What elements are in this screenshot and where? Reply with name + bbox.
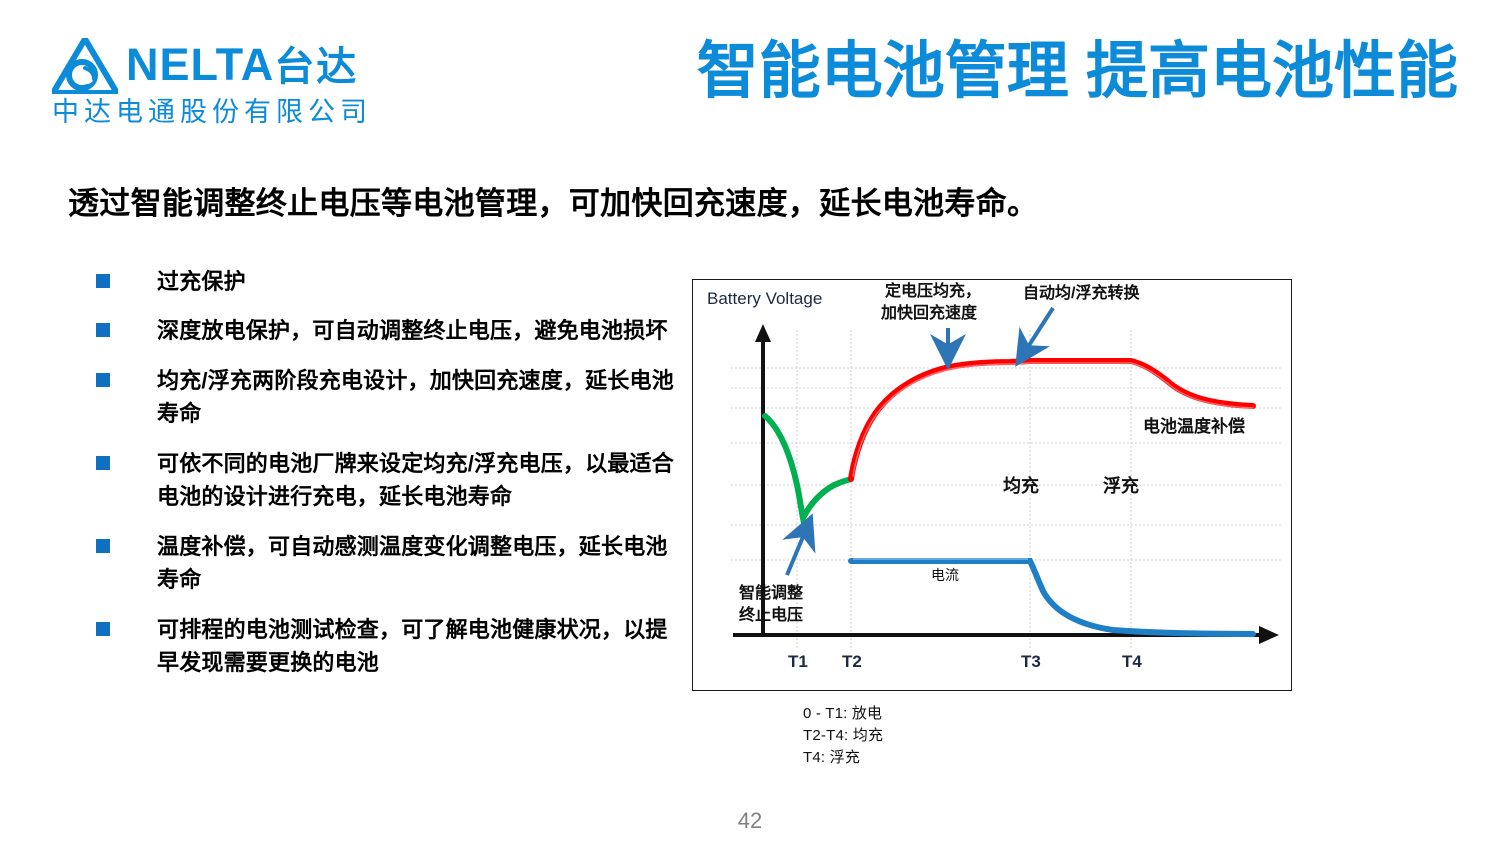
feature-bullet-list: 过充保护 深度放电保护，可自动调整终止电压，避免电池损坏 均充/浮充两阶段充电设… bbox=[96, 265, 676, 695]
list-item: 过充保护 bbox=[96, 265, 676, 298]
brand-wordmark-latin: NELTA bbox=[126, 39, 274, 90]
list-item: 可排程的电池测试检查，可了解电池健康状况，以提早发现需要更换的电池 bbox=[96, 613, 676, 680]
brand-logo: NELTA台达 中达电通股份有限公司 bbox=[48, 34, 388, 138]
bullet-square-icon bbox=[96, 274, 110, 288]
smart-cutoff-note-line2: 终止电压 bbox=[739, 605, 803, 624]
auto-switch-arrow-icon bbox=[1026, 308, 1053, 350]
list-item-label: 均充/浮充两阶段充电设计，加快回充速度，延长电池寿命 bbox=[157, 364, 676, 431]
float-zone-label: 浮充 bbox=[1103, 475, 1139, 496]
x-tick-t3: T3 bbox=[1021, 652, 1041, 671]
brand-company-name: 中达电通股份有限公司 bbox=[52, 96, 372, 128]
y-axis-title: Battery Voltage bbox=[707, 289, 822, 308]
chart-phase-legend: 0 - T1: 放电 T2-T4: 均充 T4: 浮充 bbox=[803, 703, 883, 768]
chart-canvas: Battery Voltage 定电压均充， 加快回充速度 自动均/浮充转换 电… bbox=[693, 280, 1290, 689]
x-tick-t1: T1 bbox=[788, 652, 808, 671]
auto-switch-note: 自动均/浮充转换 bbox=[1023, 283, 1140, 302]
list-item: 均充/浮充两阶段充电设计，加快回充速度，延长电池寿命 bbox=[96, 364, 676, 431]
brand-wordmark: NELTA台达 bbox=[126, 42, 358, 87]
list-item: 深度放电保护，可自动调整终止电压，避免电池损坏 bbox=[96, 314, 676, 347]
current-curve bbox=[851, 561, 1253, 634]
legend-line-equalize: T2-T4: 均充 bbox=[803, 725, 883, 747]
smart-cutoff-arrow-icon bbox=[787, 532, 805, 575]
list-item: 可依不同的电池厂牌来设定均充/浮充电压，以最适合电池的设计进行充电，延长电池寿命 bbox=[96, 447, 676, 514]
x-axis-arrow-icon bbox=[1259, 626, 1279, 644]
bullet-square-icon bbox=[96, 373, 110, 387]
list-item-label: 过充保护 bbox=[157, 265, 246, 298]
legend-line-float: T4: 浮充 bbox=[803, 747, 883, 769]
page-number: 42 bbox=[0, 808, 1500, 834]
current-curve-label: 电流 bbox=[931, 567, 959, 583]
subtitle-text: 透过智能调整终止电压等电池管理，可加快回充速度，延长电池寿命。 bbox=[68, 178, 1038, 223]
discharge-curve bbox=[765, 416, 851, 518]
y-axis-arrow-icon bbox=[755, 324, 771, 342]
list-item-label: 深度放电保护，可自动调整终止电压，避免电池损坏 bbox=[157, 314, 668, 347]
x-tick-t4: T4 bbox=[1122, 652, 1142, 671]
x-tick-t2: T2 bbox=[842, 652, 862, 671]
grid-vertical bbox=[797, 330, 1131, 650]
page-title: 智能电池管理 提高电池性能 bbox=[697, 38, 1458, 106]
bullet-square-icon bbox=[96, 323, 110, 337]
temp-compensation-note: 电池温度补偿 bbox=[1143, 416, 1245, 436]
bullet-square-icon bbox=[96, 456, 110, 470]
bullet-square-icon bbox=[96, 622, 110, 636]
equalize-zone-label: 均充 bbox=[1003, 475, 1039, 496]
cv-equalize-note-line1: 定电压均充， bbox=[884, 281, 981, 300]
battery-charge-chart: Battery Voltage 定电压均充， 加快回充速度 自动均/浮充转换 电… bbox=[692, 279, 1292, 691]
delta-triangle-logo-icon bbox=[52, 38, 118, 94]
list-item: 温度补偿，可自动感测温度变化调整电压，延长电池寿命 bbox=[96, 530, 676, 597]
brand-wordmark-cn: 台达 bbox=[274, 45, 358, 89]
bullet-square-icon bbox=[96, 539, 110, 553]
cv-equalize-note-line2: 加快回充速度 bbox=[880, 303, 978, 322]
list-item-label: 可依不同的电池厂牌来设定均充/浮充电压，以最适合电池的设计进行充电，延长电池寿命 bbox=[157, 447, 676, 514]
list-item-label: 温度补偿，可自动感测温度变化调整电压，延长电池寿命 bbox=[157, 530, 676, 597]
legend-line-discharge: 0 - T1: 放电 bbox=[803, 703, 883, 725]
list-item-label: 可排程的电池测试检查，可了解电池健康状况，以提早发现需要更换的电池 bbox=[157, 613, 676, 680]
smart-cutoff-note-line1: 智能调整 bbox=[739, 583, 803, 602]
